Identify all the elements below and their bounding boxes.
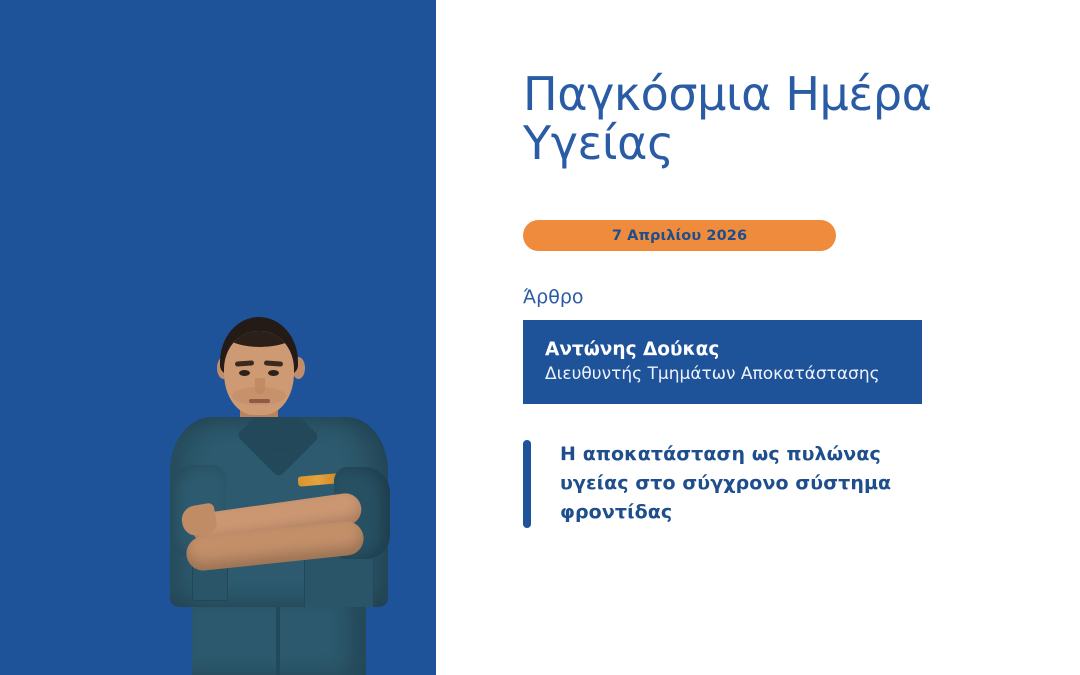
- portrait-chest-logo: [298, 473, 339, 486]
- section-label-article: Άρθρο: [523, 286, 584, 308]
- content-column: Παγκόσμια Ημέρα Υγείας 7 Απριλίου 2026 Ά…: [523, 0, 1028, 675]
- portrait-eyebrow-right: [264, 360, 283, 366]
- speaker-name: Αντώνης Δούκας: [545, 338, 922, 363]
- portrait-eye-left: [239, 370, 250, 376]
- portrait-face: [224, 331, 294, 415]
- article-headline-block: Η αποκατάσταση ως πυλώνας υγείας στο σύγ…: [523, 440, 923, 528]
- date-badge-label: 7 Απριλίου 2026: [612, 228, 747, 244]
- portrait-nose: [255, 378, 265, 394]
- portrait-mouth: [249, 399, 270, 403]
- speaker-role: Διευθυντής Τμημάτων Αποκατάστασης: [545, 363, 922, 386]
- article-headline: Η αποκατάσταση ως πυλώνας υγείας στο σύγ…: [560, 440, 923, 527]
- slide-root: Παγκόσμια Ημέρα Υγείας 7 Απριλίου 2026 Ά…: [0, 0, 1080, 675]
- page-title: Παγκόσμια Ημέρα Υγείας: [523, 70, 963, 168]
- portrait-collar-seam: [236, 417, 320, 457]
- left-blue-panel: [0, 0, 436, 675]
- doctor-portrait-photo: [152, 317, 410, 675]
- accent-bar: [523, 440, 531, 528]
- portrait-scrub-trousers: [192, 595, 366, 675]
- portrait-eye-right: [268, 370, 279, 376]
- portrait-eyebrow-left: [235, 360, 254, 366]
- speaker-card: Αντώνης Δούκας Διευθυντής Τμημάτων Αποκα…: [523, 320, 922, 404]
- date-badge: 7 Απριλίου 2026: [523, 220, 836, 251]
- portrait-pocket-right: [304, 555, 374, 607]
